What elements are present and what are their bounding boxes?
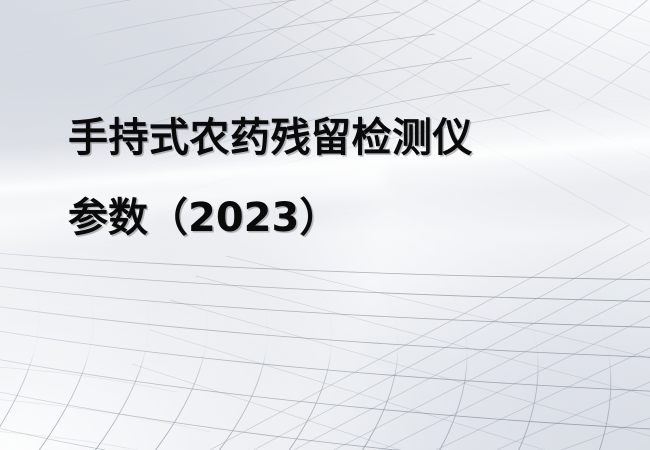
title-line-2: 参数（2023） [68,198,588,238]
title-line-1: 手持式农药残留检测仪 [68,118,588,158]
banner-title: 手持式农药残留检测仪 参数（2023） [68,118,588,238]
title-banner: 手持式农药残留检测仪 参数（2023） [0,0,650,450]
